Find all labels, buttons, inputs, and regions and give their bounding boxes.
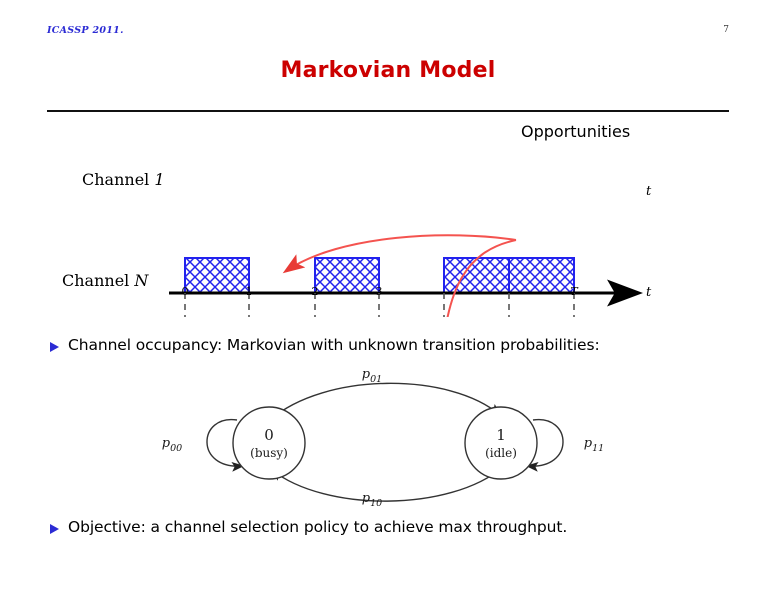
markov-state-1-sublabel: (idle)	[485, 446, 517, 460]
slide-canvas: ICASSP 2011. 7 Markovian Model	[0, 0, 776, 600]
tick-label-T: T	[564, 285, 584, 298]
page-title: Markovian Model	[0, 58, 776, 83]
transition-label-p11: p11	[584, 436, 604, 454]
tick-label-0: 0	[175, 285, 195, 298]
channel-1-index: 1	[154, 170, 164, 189]
tick-label-2: 2	[305, 285, 325, 298]
markov-chain-svg: 0 (busy) 1 (idle) p01 p10 p00 p11	[150, 362, 620, 507]
bullet-2-text: Objective: a channel selection policy to…	[68, 518, 567, 536]
transition-label-p01: p01	[362, 367, 382, 385]
bullet-item-2: Objective: a channel selection policy to…	[50, 518, 567, 536]
channel-1-axis-label: t	[646, 184, 651, 199]
bullet-item-1: Channel occupancy: Markovian with unknow…	[50, 336, 600, 354]
tick-label-3: 3	[369, 285, 389, 298]
conference-header: ICASSP 2011.	[47, 25, 124, 36]
markov-state-0-label: 0	[264, 426, 274, 444]
bullet-triangle-icon	[50, 524, 59, 534]
tick-label-1: 1	[239, 285, 259, 298]
transition-arc-p10	[272, 467, 503, 501]
opportunities-label: Opportunities	[521, 122, 630, 141]
page-number: 7	[723, 25, 729, 35]
markov-state-1-label: 1	[496, 426, 506, 444]
transition-label-p10: p10	[362, 491, 382, 507]
channel-1-label: Channel 1	[82, 170, 165, 189]
transition-label-p00: p00	[162, 436, 182, 454]
timing-diagram: Channel 1 Channel N Opportunities t t 0 …	[0, 112, 776, 317]
channel-n-axis-label: t	[646, 285, 651, 300]
bullet-triangle-icon	[50, 342, 59, 352]
channel-n-label: Channel N	[62, 271, 148, 290]
markov-state-0-sublabel: (busy)	[250, 446, 288, 460]
bullet-1-text: Channel occupancy: Markovian with unknow…	[68, 336, 600, 354]
channel-n-index: N	[134, 271, 148, 290]
markov-chain-diagram: 0 (busy) 1 (idle) p01 p10 p00 p11	[150, 362, 620, 507]
transition-arc-p01	[270, 383, 500, 420]
